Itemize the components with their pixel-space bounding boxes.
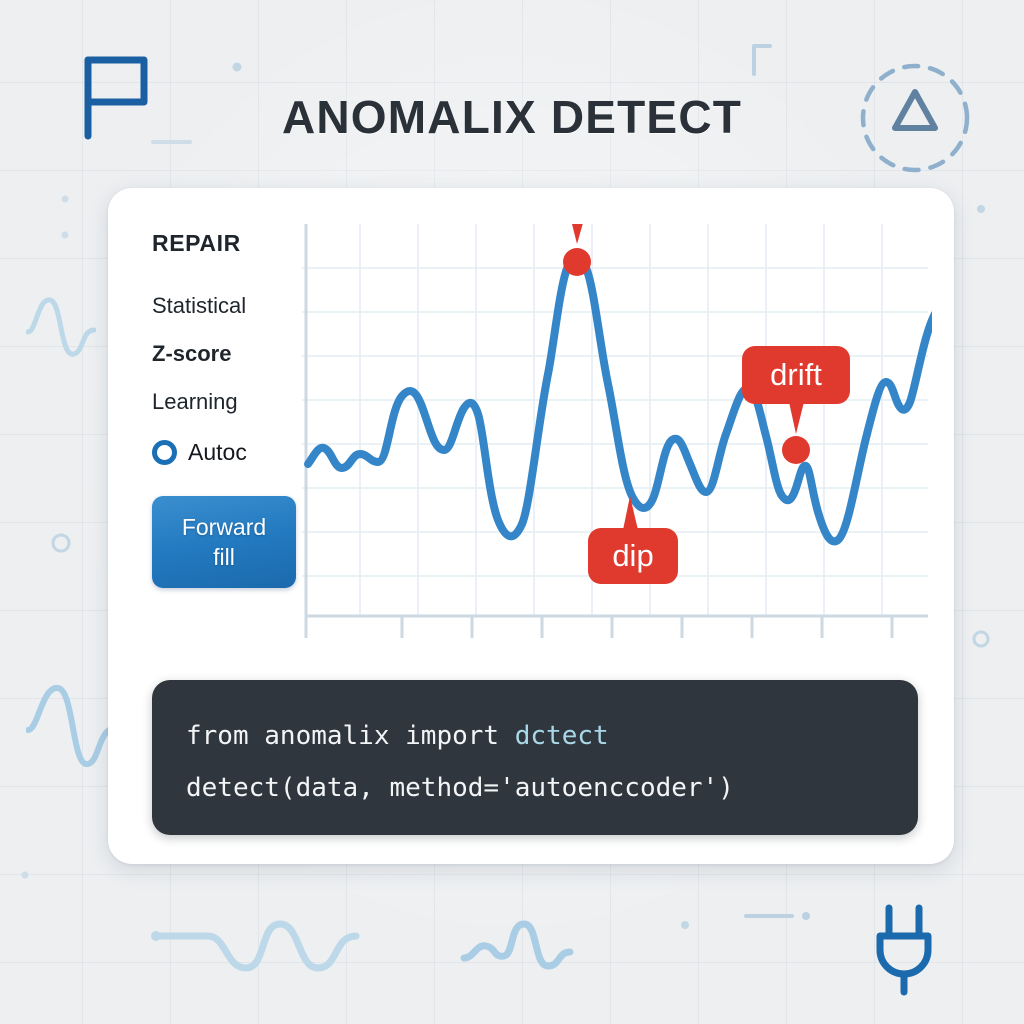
wave-squiggle (458, 900, 588, 990)
sidebar-item-z-score[interactable]: Z-score (152, 341, 312, 367)
anomaly-line-chart: spike drift dip (302, 224, 932, 644)
annotation-dip-label: dip (612, 538, 653, 573)
anomaly-marker-spike[interactable] (563, 248, 591, 276)
chart-area: spike drift dip (302, 224, 932, 644)
sidebar-heading: REPAIR (152, 230, 312, 257)
annotation-spike[interactable]: spike (519, 224, 635, 244)
dot-marker (12, 862, 38, 888)
dot-marker (222, 52, 252, 82)
wave-squiggle (26, 290, 96, 368)
code-block: from anomalix import dctect detect(data,… (152, 680, 918, 835)
dot-marker (968, 196, 994, 222)
radio-autoencoder[interactable]: Autoc (152, 439, 312, 466)
wave-squiggle (26, 672, 118, 782)
anomaly-marker-drift[interactable] (782, 436, 810, 464)
wave-squiggle (148, 898, 568, 990)
sidebar-item-statistical[interactable]: Statistical (152, 293, 312, 319)
radio-circle-icon[interactable] (152, 440, 177, 465)
annotation-dip[interactable]: dip (588, 496, 678, 584)
corner-bracket (744, 40, 790, 86)
ring-marker (966, 624, 996, 654)
dot-marker (52, 186, 78, 212)
forward-fill-label-line1: Forward (182, 514, 266, 540)
page-title: ANOMALIX DETECT (0, 90, 1024, 144)
sidebar: REPAIR Statistical Z-score Learning Auto… (152, 230, 312, 588)
plug-icon (858, 898, 950, 998)
chart-x-ticks (306, 616, 892, 638)
code-line-2: detect(data, method='autoenccoder') (186, 762, 884, 814)
code-line-1-module: dctect (515, 721, 609, 751)
dot-marker (52, 222, 78, 248)
main-card: REPAIR Statistical Z-score Learning Auto… (108, 188, 954, 864)
forward-fill-button[interactable]: Forward fill (152, 496, 296, 588)
sidebar-item-learning[interactable]: Learning (152, 389, 312, 415)
forward-fill-label-line2: fill (213, 544, 235, 570)
dash-dot (742, 898, 814, 934)
code-line-1: from anomalix import dctect (186, 710, 884, 762)
ring-marker (44, 526, 78, 560)
code-line-1-prefix: from anomalix import (186, 721, 515, 751)
annotation-drift-label: drift (770, 357, 822, 392)
dot-marker (672, 912, 698, 938)
radio-label: Autoc (188, 439, 247, 466)
